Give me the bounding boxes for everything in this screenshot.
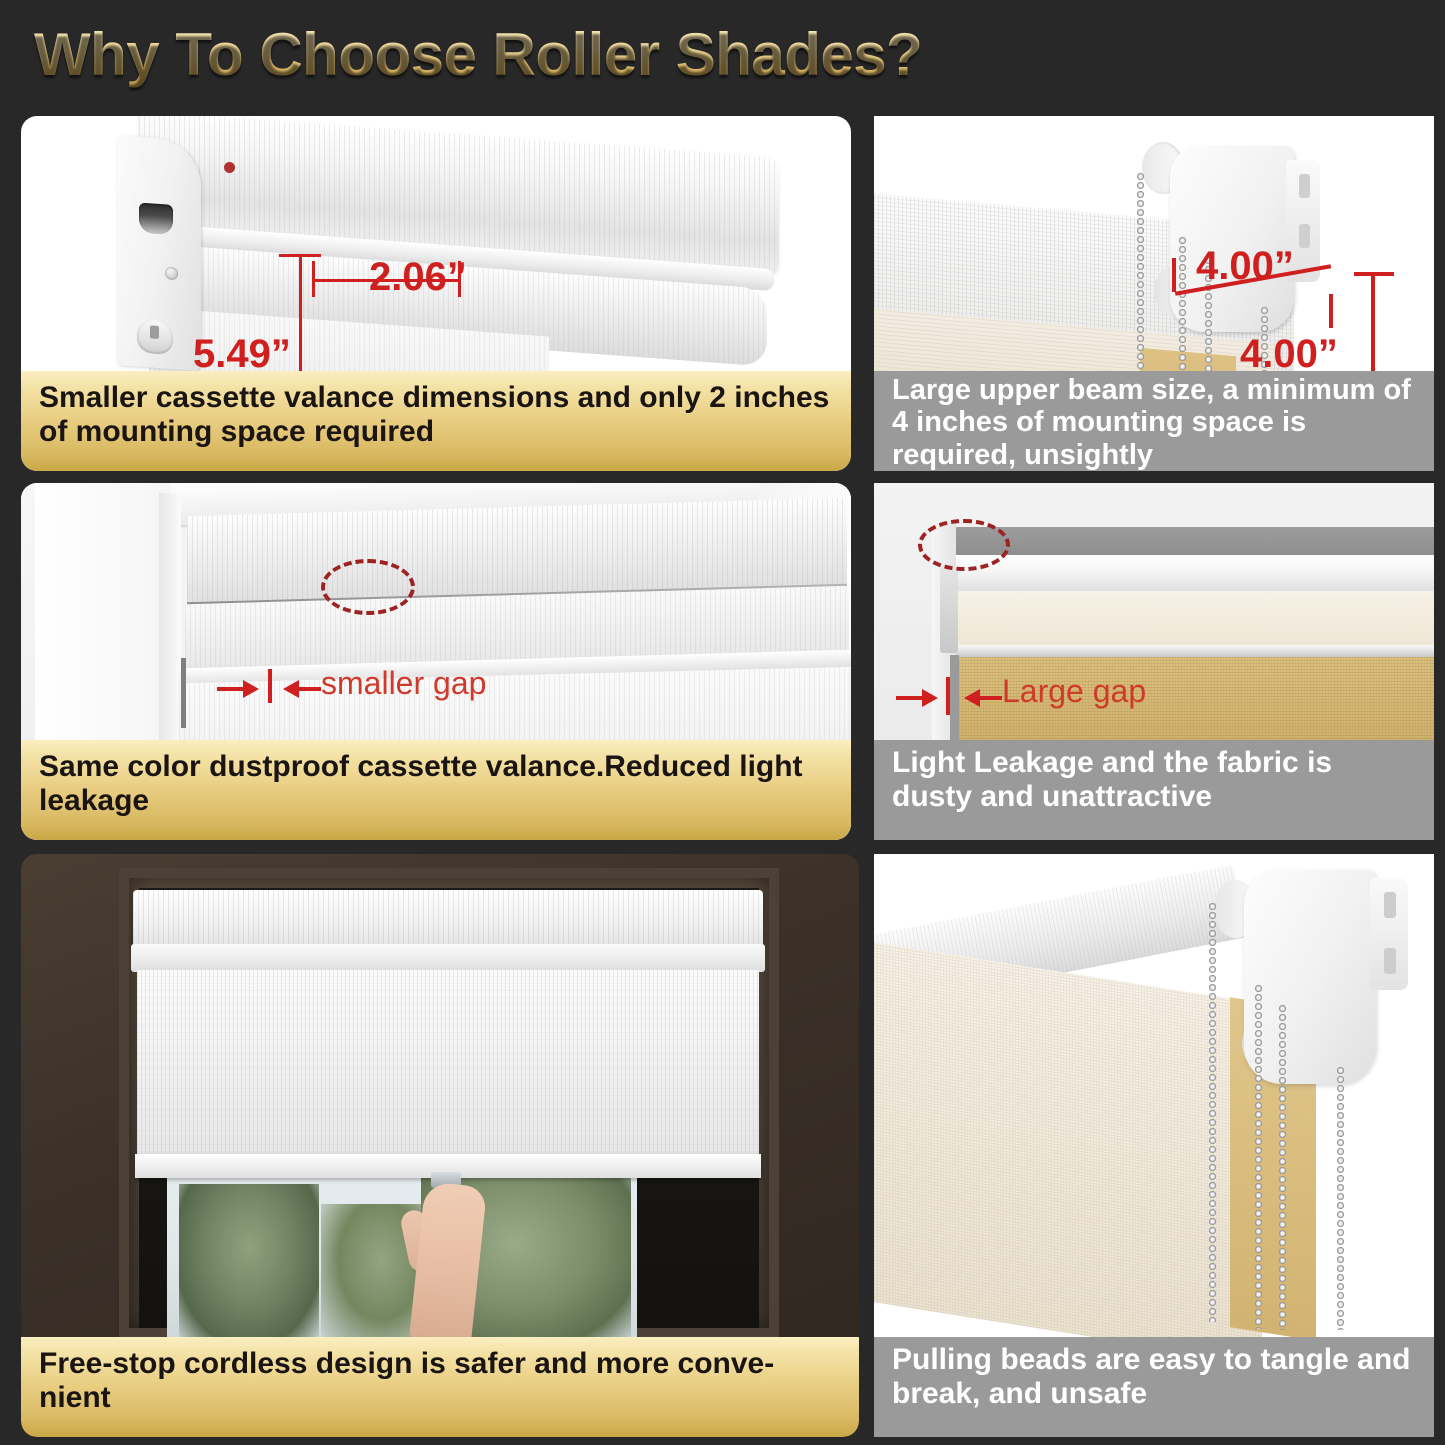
endcap-screw [165, 266, 178, 280]
gap-arrow-left-tail [896, 696, 922, 700]
caption-text: Light Leakage and the fabric is dusty an… [892, 746, 1418, 813]
panel-smaller-cassette[interactable]: 5.49” 2.06” Smaller cassette valance dim… [21, 116, 851, 471]
bead-chain-1 [1208, 902, 1217, 1322]
page-header: Why To Choose Roller Shades? [0, 0, 1445, 108]
panel-caption-4: Light Leakage and the fabric is dusty an… [874, 740, 1434, 840]
dashed-highlight-ellipse [918, 519, 1010, 571]
dashed-highlight-ellipse [321, 559, 415, 615]
gap-arrow-left-head [243, 680, 259, 698]
bracket-screw-hole-2 [1384, 948, 1396, 974]
mounting-bracket [1244, 870, 1376, 1084]
bracket-screw-hole-2 [1299, 224, 1310, 248]
depth-dimension-label: 2.06” [369, 255, 467, 300]
cassette-valance [133, 890, 763, 950]
panel-caption-1: Smaller cassette valance dimensions and … [21, 371, 851, 471]
panel-cordless-design[interactable]: Free-stop cordless design is safer and m… [21, 854, 859, 1437]
caption-text: Free-stop cordless design is safer and m… [39, 1347, 843, 1414]
gap-indicator-line [181, 658, 186, 728]
panel-caption-5: Free-stop cordless design is safer and m… [21, 1337, 859, 1437]
bead-chain-4 [1336, 1066, 1345, 1330]
tree-foliage-1 [179, 1184, 319, 1342]
gap-arrow-right-tail [980, 696, 1002, 700]
panel-pulling-beads[interactable]: Pulling beads are easy to tangle and bre… [874, 854, 1434, 1437]
gap-tick-mark [268, 669, 272, 703]
gap-tick-mark [946, 677, 950, 715]
gap-arrow-right-tail [299, 687, 321, 691]
endcap-slot [139, 203, 173, 235]
panel-light-leakage[interactable]: Large gap Light Leakage and the fabric i… [874, 483, 1434, 840]
exposed-bracket [940, 567, 958, 653]
head-rail [936, 555, 1434, 595]
bead-chain-3 [1278, 1004, 1287, 1330]
width-dim-right-cap [1329, 294, 1333, 328]
bracket-screw-hole [1299, 174, 1310, 198]
width-dimension-label: 4.00” [1196, 244, 1294, 289]
width-dim-left-cap [1172, 258, 1176, 292]
page-title: Why To Choose Roller Shades? [34, 20, 922, 89]
panel-caption-6: Pulling beads are easy to tangle and bre… [874, 1337, 1434, 1437]
gap-arrow-right-head [283, 680, 299, 698]
panel-caption-2: Large upper beam size, a minimum of 4 in… [874, 371, 1434, 471]
panel-caption-3: Same color dustproof cassette valance.Re… [21, 740, 851, 840]
measure-point-marker [224, 162, 235, 173]
shade-fabric-cream [874, 940, 1262, 1363]
gap-callout-label: smaller gap [321, 665, 486, 702]
caption-text: Pulling beads are easy to tangle and bre… [892, 1343, 1418, 1410]
endcap-knob [137, 318, 173, 355]
panel-large-beam[interactable]: 4.00” 4.00” Large upper beam size, a min… [874, 116, 1434, 471]
caption-text: Large upper beam size, a minimum of 4 in… [892, 374, 1418, 471]
gap-arrow-left-head [922, 689, 938, 707]
bead-chain-2 [1254, 984, 1263, 1329]
valance-lip [131, 944, 765, 972]
caption-text: Same color dustproof cassette valance.Re… [39, 750, 835, 817]
panel-dustproof-valance[interactable]: smaller gap Same color dustproof cassett… [21, 483, 851, 840]
mounting-bracket [1170, 146, 1294, 332]
rail-bottom-edge [936, 645, 1434, 657]
bracket-screw-hole [1384, 892, 1396, 918]
valance-endcap [117, 135, 201, 371]
caption-text: Smaller cassette valance dimensions and … [39, 381, 835, 448]
gap-callout-label: Large gap [1002, 673, 1146, 710]
shade-fabric [137, 970, 759, 1166]
gap-arrow-left-tail [217, 687, 243, 691]
fabric-roll-cream [938, 591, 1434, 647]
gap-arrow-right-head [964, 689, 980, 707]
comparison-grid: 5.49” 2.06” Smaller cassette valance dim… [0, 108, 1445, 1445]
